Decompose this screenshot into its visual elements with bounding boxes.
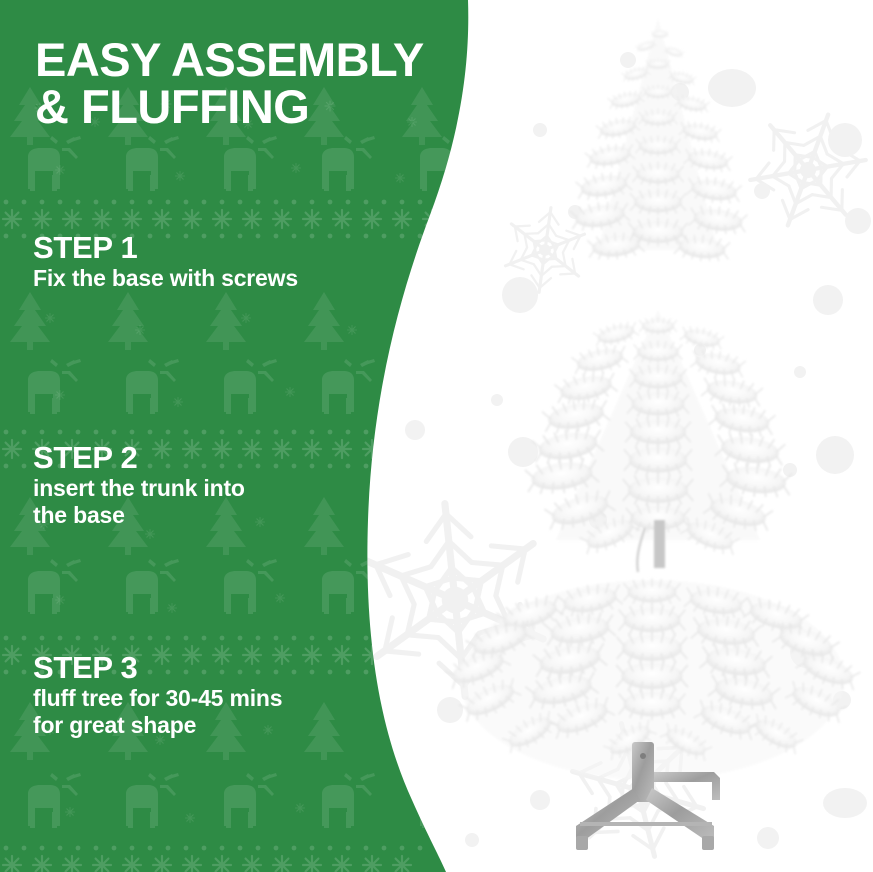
step-1-block: STEP 1 Fix the base with screws	[33, 231, 433, 292]
tree-trunk-pole	[654, 520, 665, 568]
title-line-2: & FLUFFING	[35, 83, 455, 130]
instruction-text-layer: EASY ASSEMBLY & FLUFFING STEP 1 Fix the …	[0, 0, 470, 872]
page-title: EASY ASSEMBLY & FLUFFING	[35, 36, 455, 130]
step-3-label: STEP 3	[33, 651, 433, 685]
step-2-description: insert the trunk into the base	[33, 475, 433, 529]
step-3-description: fluff tree for 30-45 mins for great shap…	[33, 685, 433, 739]
step-1-description-line-1: Fix the base with screws	[33, 265, 298, 291]
product-infographic: EASY ASSEMBLY & FLUFFING STEP 1 Fix the …	[0, 0, 873, 872]
step-1-description: Fix the base with screws	[33, 265, 433, 292]
step-2-label: STEP 2	[33, 441, 433, 475]
tree-top-section	[570, 18, 748, 263]
step-3-description-line-2: for great shape	[33, 712, 196, 738]
step-2-description-line-1: insert the trunk into	[33, 475, 245, 501]
step-2-description-line-2: the base	[33, 502, 125, 528]
step-1-label: STEP 1	[33, 231, 433, 265]
step-2-block: STEP 2 insert the trunk into the base	[33, 441, 433, 529]
tree-middle-section	[525, 310, 793, 572]
stand-leg-right	[646, 788, 714, 842]
stand-leg-left	[576, 788, 640, 842]
title-line-1: EASY ASSEMBLY	[35, 33, 424, 86]
step-3-block: STEP 3 fluff tree for 30-45 mins for gre…	[33, 651, 433, 739]
step-3-description-line-1: fluff tree for 30-45 mins	[33, 685, 282, 711]
